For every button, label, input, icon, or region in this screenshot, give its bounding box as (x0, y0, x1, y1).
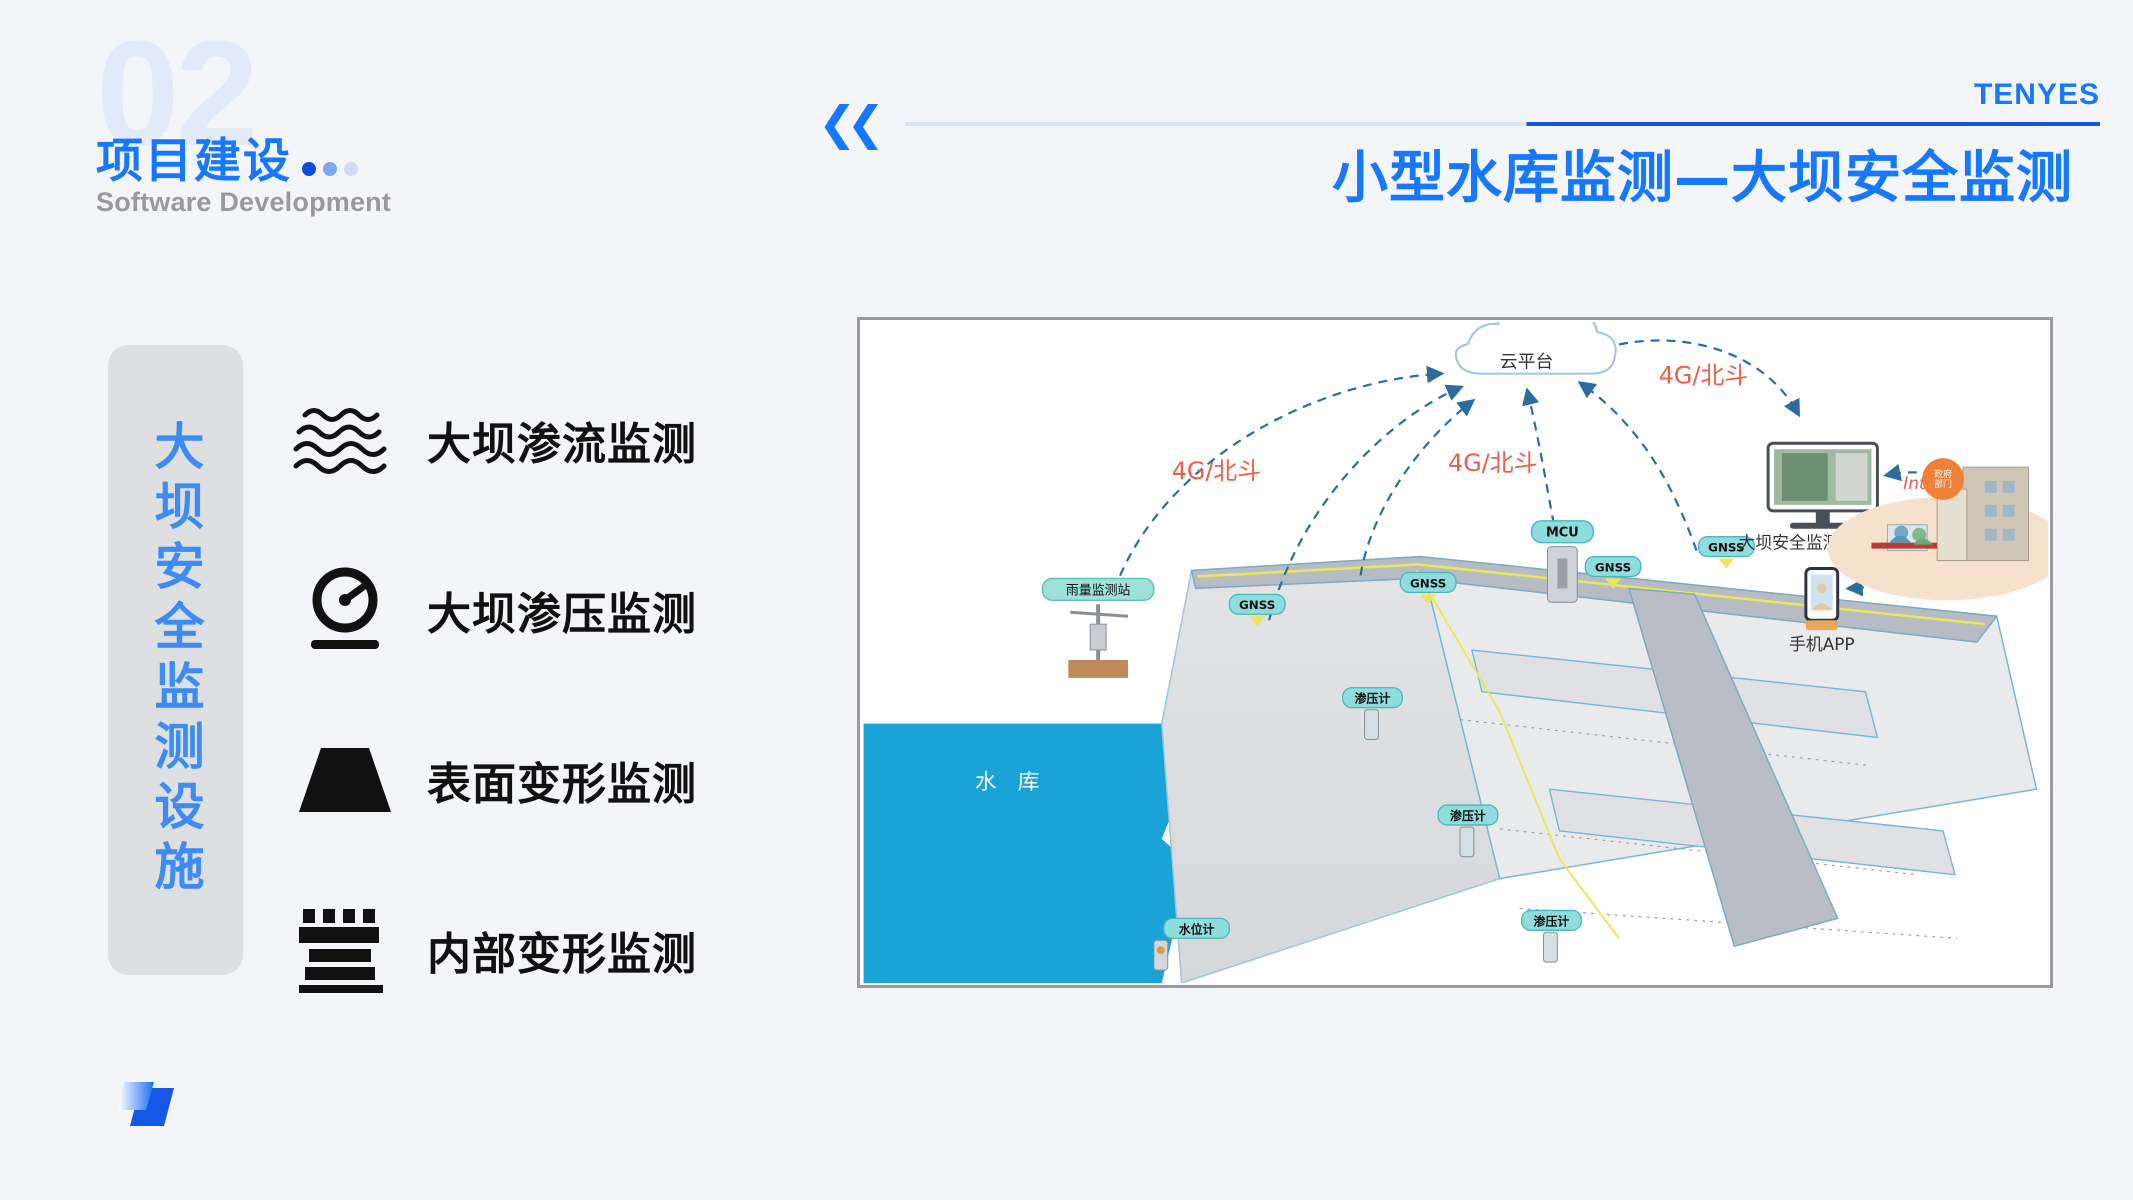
reservoir-water (864, 724, 1190, 983)
link-label-mid: 4G/北斗 (1448, 449, 1537, 477)
double-chevron-left-icon: ❮❮ (818, 100, 875, 146)
reservoir-label: 水 库 (975, 770, 1047, 795)
water-gauge-label: 水位计 (1178, 922, 1215, 936)
gauge-icon (285, 560, 405, 660)
list-item-label: 内部变形监测 (427, 918, 697, 982)
cloud-platform: 云平台 (1456, 322, 1616, 374)
list-item-label: 大坝渗流监测 (427, 408, 697, 472)
list-item-label: 大坝渗压监测 (427, 578, 697, 642)
sidebar-vertical-label: 大坝安全监测设施 (151, 420, 201, 900)
diagram-canvas: 水 库 (862, 322, 2048, 983)
app-caption: 手机APP (1789, 634, 1855, 654)
dam-icon (285, 744, 405, 816)
dept-badge-line1: 政府 (1934, 468, 1952, 480)
list-item[interactable]: 大坝渗压监测 (285, 555, 785, 665)
list-item[interactable]: 内部变形监测 (285, 895, 785, 1005)
list-item[interactable]: 大坝渗流监测 (285, 385, 785, 495)
link-label-left: 4G/北斗 (1172, 457, 1261, 485)
rain-station-label: 雨量监测站 (1066, 583, 1131, 598)
header-rule (905, 122, 2100, 126)
sidebar-vertical-pill: 大坝安全监测设施 (108, 345, 243, 975)
waves-icon (285, 401, 405, 479)
rain-station-device: 雨量监测站 (1042, 578, 1153, 677)
piezometer-device-3: 渗压计 (1522, 910, 1582, 962)
list-item[interactable]: 表面变形监测 (285, 725, 785, 835)
piezometer-label-2: 渗压计 (1450, 809, 1486, 823)
gnss-label-1: GNSS (1239, 598, 1275, 612)
gnss-label-3: GNSS (1595, 560, 1631, 574)
piezometer-label-1: 渗压计 (1355, 692, 1391, 706)
dept-badge-line2: 部门 (1934, 478, 1952, 490)
feature-list: 大坝渗流监测 大坝渗压监测 表面变形监测 (285, 385, 785, 1065)
footer-logo (118, 1080, 188, 1142)
brand-logo-text: TENYES (1974, 78, 2100, 112)
dam-monitoring-diagram: 水 库 (860, 320, 2050, 985)
page-title: 小型水库监测—大坝安全监测 (0, 145, 2103, 212)
list-item-label: 表面变形监测 (427, 748, 697, 812)
link-label-right: 4G/北斗 (1659, 362, 1748, 390)
mcu-label: MCU (1546, 526, 1579, 541)
fortress-icon (285, 907, 405, 993)
piezometer-label-3: 渗压计 (1534, 914, 1570, 928)
cloud-label: 云平台 (1500, 352, 1554, 373)
gnss-label-2: GNSS (1410, 576, 1446, 590)
